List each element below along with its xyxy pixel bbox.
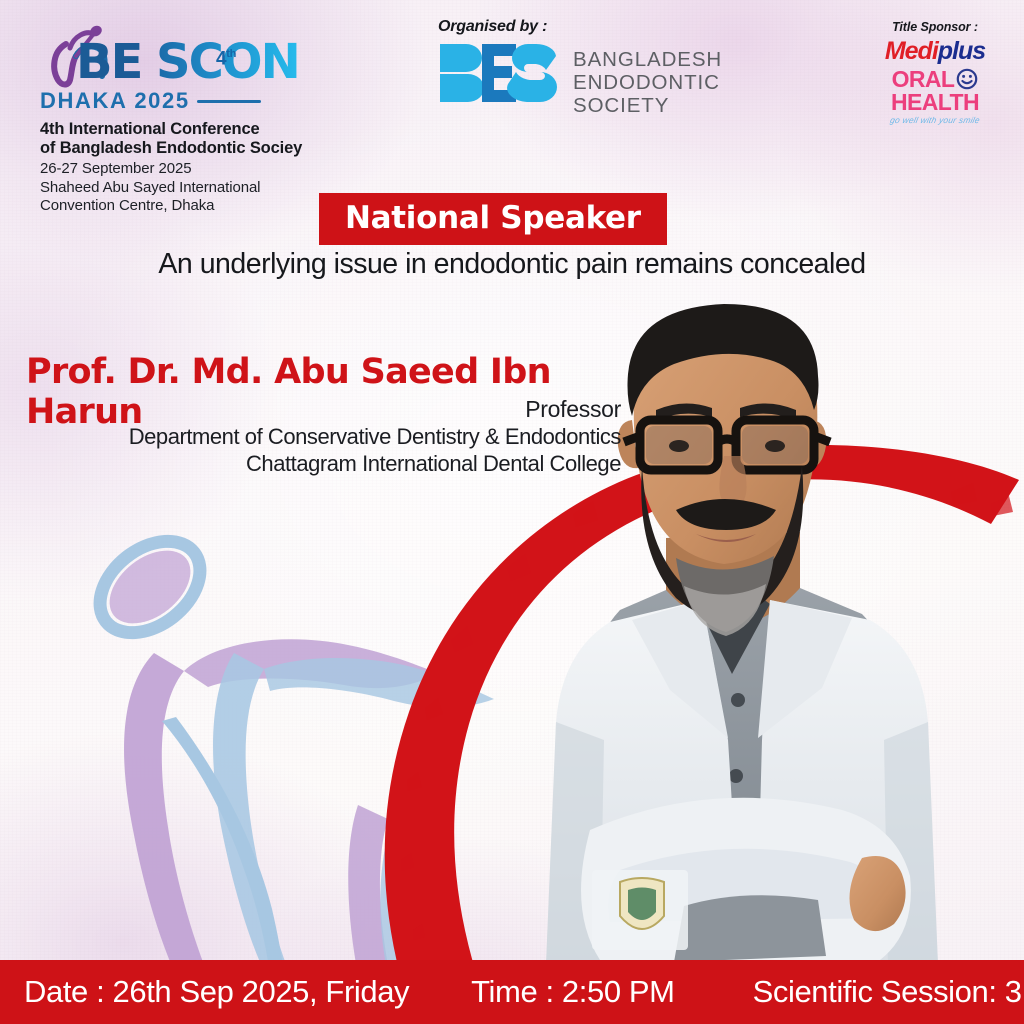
conference-title-line1: 4th International Conference [40,120,340,139]
svg-text:BE: BE [76,34,141,90]
speaker-credentials: Professor Department of Conservative Den… [26,396,621,477]
oral-health-line1: ORAL [892,68,955,91]
bescon-edition-badge: 4th [216,48,236,70]
venue-line2: Convention Centre, Dhaka [40,197,340,215]
talk-title: An underlying issue in endodontic pain r… [0,248,1024,281]
conference-title-line2: of Bangladesh Endodontic Sociey [40,139,340,158]
oral-health-tagline: go well with your smile [854,116,1016,124]
venue-line1: Shaheed Abu Sayed International [40,179,340,197]
title-sponsor-label: Title Sponsor : [855,20,1015,34]
organiser-block: Organised by : BANGLADESH ENDODONTIC SOC… [438,18,768,117]
national-speaker-badge: National Speaker [319,193,667,245]
speaker-announcement-poster: BE SCON 4th DHAKA 2025 4th International… [0,0,1024,1024]
bes-name-line2: ENDODONTIC [573,71,722,94]
organised-by-label: Organised by : [438,18,768,36]
mediplus-part1: Medi [885,37,938,65]
bes-full-name: BANGLADESH ENDODONTIC SOCIETY [573,48,722,117]
conference-dates: 26-27 September 2025 [40,160,340,178]
bescon-wordmark: BE SCON [40,22,340,92]
oral-health-line2: HEALTH [855,91,1015,114]
mediplus-logo: Mediplus [855,39,1015,64]
bescon-rule [197,100,261,103]
speaker-role: Professor [26,396,621,423]
speaker-department: Department of Conservative Dentistry & E… [26,424,621,450]
bes-name-line3: SOCIETY [573,94,722,117]
footer-time: Time : 2:50 PM [471,974,674,1010]
bescon-logo-block: BE SCON 4th DHAKA 2025 4th International… [40,22,340,215]
bes-logo-icon [438,42,560,104]
smiley-face-icon [956,68,978,90]
speaker-institution: Chattagram International Dental College [26,451,621,477]
footer-scientific-session: Scientific Session: 3 [753,974,1022,1010]
footer-date: Date : 26th Sep 2025, Friday [24,974,409,1010]
title-sponsor-block: Title Sponsor : Mediplus ORAL HEALTH go … [855,20,1015,124]
footer-bar: Date : 26th Sep 2025, Friday Time : 2:50… [0,960,1024,1024]
national-speaker-label: National Speaker [345,200,641,236]
mediplus-part2: plus [938,37,985,65]
bes-name-line1: BANGLADESH [573,48,722,71]
oral-health-logo: ORAL HEALTH go well with your smile [855,68,1015,124]
